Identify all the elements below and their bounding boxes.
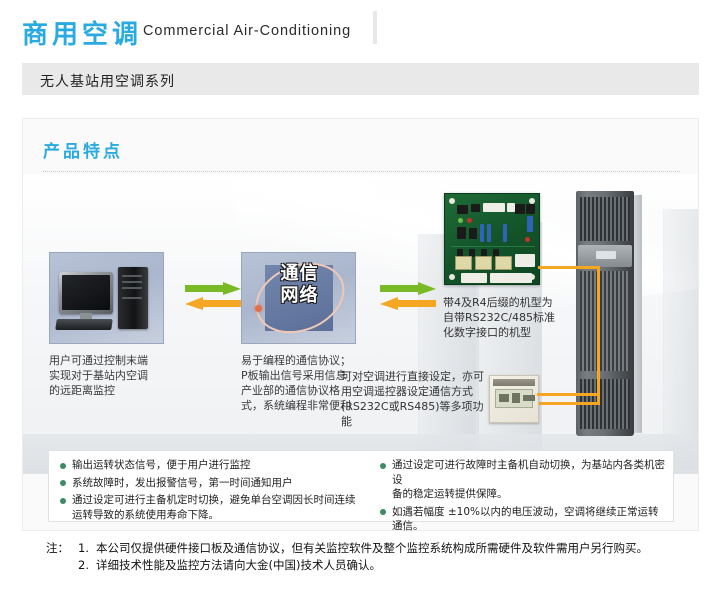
note-number: 1.: [78, 540, 96, 557]
series-bar: 无人基站用空调系列: [22, 63, 699, 95]
note-item: 1.本公司仅提供硬件接口板及通信协议，但有关监控软件及整个监控系统构成所需硬件及…: [78, 540, 706, 557]
connector-line-pcb-vertical: [597, 266, 600, 405]
connector-line-remote-horizontal-upper: [538, 402, 600, 405]
header-divider: [373, 11, 377, 44]
footer-notes: 注： 1.本公司仅提供硬件接口板及通信协议，但有关监控软件及整个监控系统构成所需…: [46, 540, 706, 574]
ac-body: [576, 191, 634, 436]
connector-line-pcb-horizontal: [538, 266, 600, 269]
bullet-column-right: 通过设定可进行故障时主备机自动切换，为基站内各类机密设 备的稳定运转提供保障。 …: [379, 458, 667, 537]
series-bar-label: 无人基站用空调系列: [40, 71, 175, 91]
flow-cell-caption: 用户可通过控制末端 实现对于基站内空调 的远距离监控: [49, 353, 173, 398]
network-thumbnail-text: 通信 网络: [242, 263, 356, 307]
arrow-right-green-icon: [380, 282, 436, 295]
arrow-left-orange-icon: [380, 297, 436, 310]
panel-divider: [43, 171, 680, 173]
interface-pcb-image: [444, 193, 540, 285]
page-header: 商用空调 Commercial Air-Conditioning: [0, 0, 721, 55]
feature-bullets-box: 输出运转状态信号，便于用户进行监控 系统故障时，发出报警信号，第一时间通知用户 …: [48, 450, 674, 522]
notes-label: 注：: [46, 540, 69, 557]
bullet-item: 通过设定可进行主备机定时切换，避免单台空调因长时间连续 运转导致的系统使用寿命下…: [59, 493, 377, 522]
panel-title: 产品特点: [43, 137, 123, 162]
air-conditioner-unit-image: [576, 191, 642, 436]
bullet-item: 输出运转状态信号，便于用户进行监控: [59, 458, 377, 473]
notes-list: 1.本公司仅提供硬件接口板及通信协议，但有关监控软件及整个监控系统构成所需硬件及…: [78, 540, 706, 574]
monitor-screen: [62, 275, 110, 310]
bullet-item: 如遇若幅度 ±10%以内的电压波动，空调将继续正常运转通信。: [379, 505, 667, 534]
network-thumbnail: 通信 网络: [241, 252, 356, 344]
page-subtitle: Commercial Air-Conditioning: [143, 23, 351, 39]
note-item: 2.详细技术性能及监控方法请向大金(中国)技术人员确认。: [78, 557, 706, 574]
pc-tower-icon: [118, 267, 148, 329]
monitor-icon: [59, 272, 113, 314]
bullet-item: 系统故障时，发出报警信号，第一时间通知用户: [59, 476, 377, 491]
pc-thumbnail: [49, 252, 164, 344]
ac-grill-top: [580, 197, 630, 241]
ac-handle: [596, 251, 616, 259]
arrow-right-green-icon: [185, 282, 241, 295]
remote-lcd-screen: [495, 389, 533, 408]
note-text: 本公司仅提供硬件接口板及通信协议，但有关监控软件及整个监控系统构成所需硬件及软件…: [96, 541, 648, 555]
ac-grill-middle: [580, 271, 630, 371]
connector-line-remote: [537, 393, 599, 396]
flow-cell-control-terminal: 用户可通过控制末端 实现对于基站内空调 的远距离监控: [49, 252, 173, 398]
bullet-item: 通过设定可进行故障时主备机自动切换，为基站内各类机密设 备的稳定运转提供保障。: [379, 458, 667, 502]
flow-arrow-2: [380, 282, 436, 314]
keyboard-icon: [55, 319, 113, 330]
note-text: 详细技术性能及监控方法请向大金(中国)技术人员确认。: [96, 558, 381, 572]
bullet-column-left: 输出运转状态信号，便于用户进行监控 系统故障时，发出报警信号，第一时间通知用户 …: [59, 458, 377, 525]
remote-controller-image: [489, 375, 539, 423]
remote-callout-caption: 可对空调进行直接设定，亦可 用空调遥控器设定通信方式 (RS232C或RS485…: [341, 369, 487, 429]
page-title: 商用空调: [22, 14, 142, 51]
server-rack: [663, 209, 699, 469]
remote-header-bar: [493, 379, 535, 386]
note-number: 2.: [78, 557, 96, 574]
arrow-left-orange-icon: [185, 297, 241, 310]
flow-arrow-1: [185, 282, 241, 314]
ac-control-panel: [578, 245, 632, 267]
pcb-callout-caption: 带4及R4后缀的机型为 自带RS232C/485标准 化数字接口的机型: [443, 295, 593, 340]
